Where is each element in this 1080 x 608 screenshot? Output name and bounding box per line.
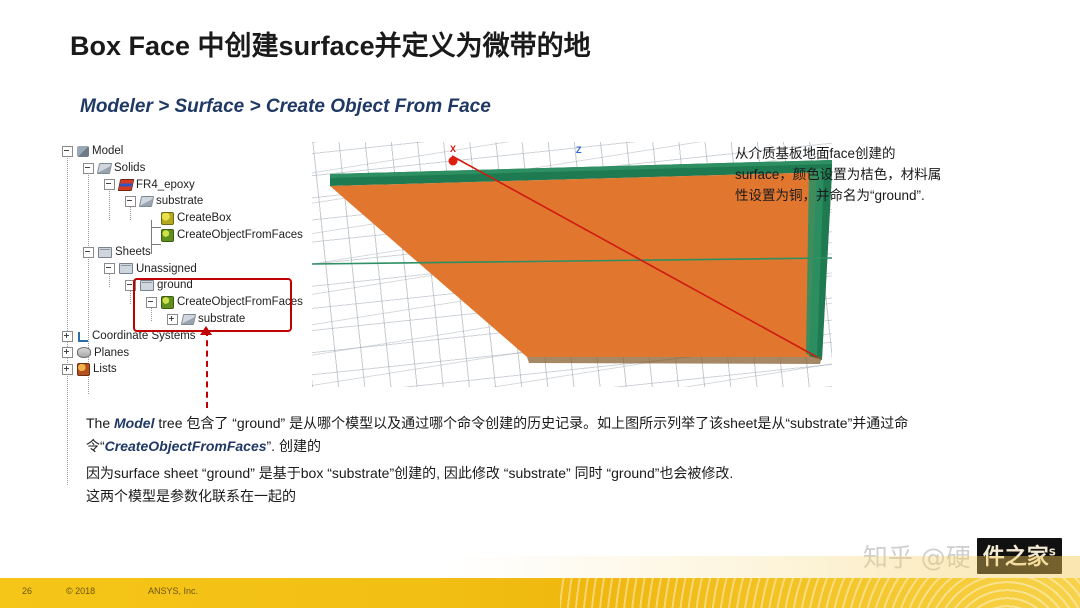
solids-icon (97, 163, 112, 174)
axis-label-z: Z (576, 145, 582, 155)
company-name: ANSYS, Inc. (148, 586, 198, 596)
expander-plus-icon[interactable] (62, 347, 73, 358)
tree-item-label: FR4_epoxy (136, 177, 195, 194)
tree-item-label: ground (157, 277, 193, 294)
note-line-3: 性设置为铜，并命名为“ground”. (735, 185, 1035, 206)
tree-item-unassigned[interactable]: Unassigned (104, 261, 302, 278)
callout-arrow (206, 330, 210, 408)
tree-item-label: Unassigned (136, 261, 197, 278)
tree-item-ground[interactable]: ground (125, 277, 302, 294)
axis-label-x: X (450, 144, 456, 154)
command-green-icon (161, 229, 174, 242)
solids-icon (139, 196, 154, 207)
note-line-1: 从介质基板地面face创建的 (735, 143, 1035, 164)
expander-minus-icon[interactable] (62, 146, 73, 157)
para2-line-2: 这两个模型是参数化联系在一起的 (86, 485, 936, 508)
expander-minus-icon[interactable] (104, 263, 115, 274)
tree-item-planes[interactable]: Planes (62, 345, 302, 362)
tree-item-createbox[interactable]: CreateBox (160, 210, 302, 227)
tree-item-fr4-epoxy[interactable]: FR4_epoxy (104, 177, 302, 194)
copyright-text: © 2018 (66, 586, 95, 596)
tree-item-lists[interactable]: Lists (62, 361, 302, 378)
para1-command-emphasis: CreateObjectFromFaces (105, 438, 267, 454)
expander-minus-icon[interactable] (125, 280, 136, 291)
expander-minus-icon[interactable] (146, 297, 157, 308)
para1-model-emphasis: Model (114, 415, 154, 431)
expander-plus-icon[interactable] (167, 314, 178, 325)
sheet-icon (119, 263, 133, 274)
tree-item-label: CreateBox (177, 210, 231, 227)
para1-part-d: ”. 创建的 (267, 438, 321, 454)
tree-item-coordinate-systems[interactable]: Coordinate Systems (62, 328, 302, 345)
tree-item-sheets[interactable]: Sheets (83, 244, 302, 261)
para1-part-a: The (86, 415, 114, 431)
tree-item-label: Coordinate Systems (92, 328, 196, 345)
page-title: Box Face 中创建surface并定义为微带的地 (70, 24, 591, 63)
tree-item-ground-substrate[interactable]: substrate (167, 311, 302, 328)
model-tree[interactable]: Model Solids FR4_epoxy substrate CreateB… (62, 143, 302, 383)
tree-item-model[interactable]: Model (62, 143, 302, 160)
tree-item-label: CreateObjectFromFaces (177, 227, 303, 244)
command-icon (161, 212, 174, 225)
tree-connector (67, 153, 68, 485)
tree-item-label: CreateObjectFromFaces (177, 294, 303, 311)
note-line-2: surface，颜色设置为桔色，材料属 (735, 164, 1035, 185)
expander-minus-icon[interactable] (83, 247, 94, 258)
expander-plus-icon[interactable] (62, 331, 73, 342)
page-number: 26 (22, 586, 32, 596)
tree-item-solids[interactable]: Solids (83, 160, 302, 177)
para2-line-1: 因为surface sheet “ground” 是基于box “substra… (86, 462, 936, 485)
model-icon (77, 146, 89, 157)
para1-part-b: tree 包含了 “ground” 是从哪个模型以及通过哪个命令创建的历史记录。… (154, 415, 723, 431)
expander-plus-icon[interactable] (62, 364, 73, 375)
solids-icon (181, 314, 196, 325)
tree-item-label: Lists (93, 361, 117, 378)
tree-item-label: Solids (114, 160, 145, 177)
annotation-note: 从介质基板地面face创建的 surface，颜色设置为桔色，材料属 性设置为铜… (735, 143, 1035, 206)
tree-item-label: substrate (156, 193, 203, 210)
footer-fade (0, 556, 1080, 578)
sheet-icon (98, 247, 112, 258)
tree-item-label: Sheets (115, 244, 151, 261)
sheet-icon (140, 280, 154, 291)
footer-band: 26 © 2018 ANSYS, Inc. (0, 578, 1080, 608)
tree-item-label: Planes (94, 345, 129, 362)
command-green-icon (161, 296, 174, 309)
expander-minus-icon[interactable] (125, 196, 136, 207)
material-stack-icon (118, 179, 135, 191)
tree-item-ground-createobjectfromfaces[interactable]: CreateObjectFromFaces (146, 294, 302, 311)
list-icon (77, 363, 90, 376)
plane-icon (77, 347, 91, 358)
breadcrumb: Modeler > Surface > Create Object From F… (80, 96, 491, 118)
body-paragraph-2: 因为surface sheet “ground” 是基于box “substra… (86, 462, 936, 508)
tree-item-createobjectfromfaces[interactable]: CreateObjectFromFaces (160, 227, 302, 244)
slide-canvas: Box Face 中创建surface并定义为微带的地 Modeler > Su… (0, 0, 1080, 608)
coordinate-system-icon (77, 331, 89, 342)
body-paragraph-1: The Model tree 包含了 “ground” 是从哪个模型以及通过哪个… (86, 412, 916, 458)
tree-item-substrate[interactable]: substrate (125, 193, 302, 210)
expander-minus-icon[interactable] (104, 179, 115, 190)
expander-minus-icon[interactable] (83, 163, 94, 174)
tree-item-label: Model (92, 143, 123, 160)
